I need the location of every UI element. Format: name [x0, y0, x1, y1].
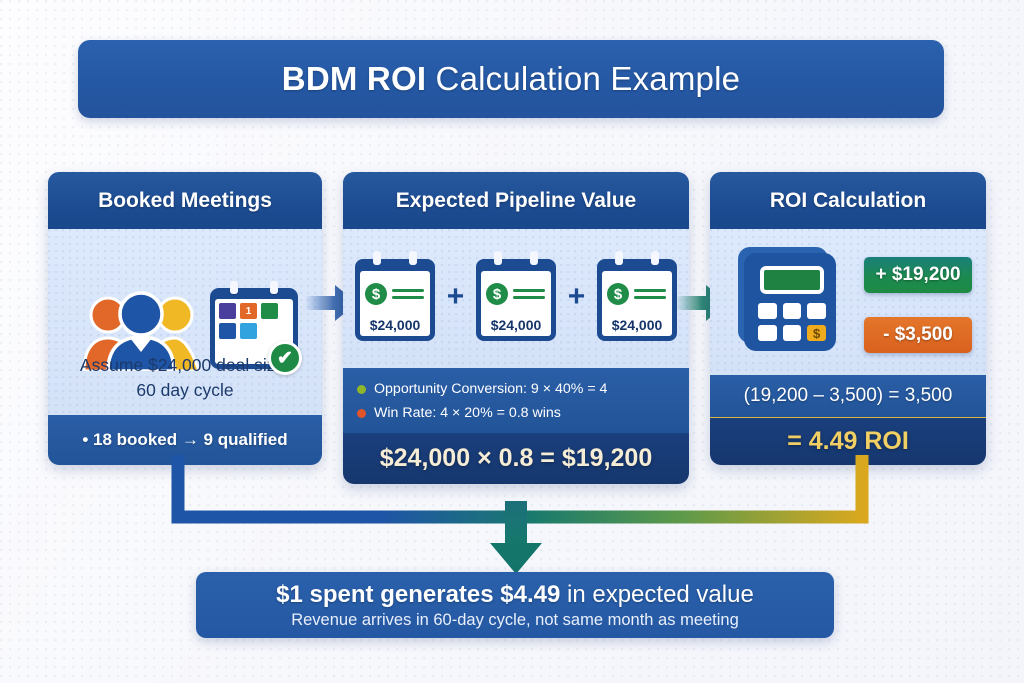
card-expected-pipeline-value-header: Expected Pipeline Value [343, 172, 689, 229]
card-roi-calculation-body: $ + $19,200 - $3,500 [710, 229, 986, 375]
calendar-cell-4 [219, 323, 236, 339]
calculator-key-2 [783, 303, 802, 319]
page-title-light: Calculation Example [426, 60, 740, 97]
summary-suffix: in expected value [560, 581, 753, 608]
money-calendar-1: $ $24,000 [353, 251, 437, 343]
calculator-key-1 [758, 303, 777, 319]
money-calendar-2-panel: $ $24,000 [481, 271, 551, 336]
money-calendar-3-content: $ [602, 271, 672, 317]
bullet-dot-orange [357, 409, 366, 418]
money-calendar-2: $ $24,000 [474, 251, 558, 343]
amount-lines [392, 289, 430, 299]
dollar-icon: $ [365, 283, 387, 305]
page-title-strong: BDM ROI [282, 60, 426, 97]
summary-banner: $1 spent generates $4.49 in expected val… [196, 572, 834, 638]
money-calendar-2-content: $ [481, 271, 551, 317]
calendar-ring-right [270, 281, 278, 294]
calendar-cell-5 [240, 323, 257, 339]
card-roi-calculation: ROI Calculation $ + $19,200 - [710, 172, 986, 465]
card-booked-meetings-header: Booked Meetings [48, 172, 322, 229]
card-expected-pipeline-value-body: $ $24,000 + $ [343, 229, 689, 368]
money-calendar-2-amount: $24,000 [481, 317, 551, 336]
bullet-win-rate: Win Rate: 4 × 20% = 0.8 wins [357, 401, 677, 425]
title-bar: BDM ROI Calculation Example [78, 40, 944, 118]
roi-footer-text: = 4.49 ROI [787, 427, 909, 456]
money-calendar-1-content: $ [360, 271, 430, 317]
bullet-opportunity-conversion: Opportunity Conversion: 9 × 40% = 4 [357, 377, 677, 401]
check-circle-icon: ✔ [268, 341, 302, 375]
calendar-cell-today: 1 [240, 303, 257, 319]
calendar-ring-left [230, 281, 238, 294]
money-calendar-3: $ $24,000 [595, 251, 679, 343]
pipeline-bullets: Opportunity Conversion: 9 × 40% = 4 Win … [343, 368, 689, 433]
plus-icon-2: + [568, 282, 586, 312]
money-calendar-1-panel: $ $24,000 [360, 271, 430, 336]
bullet-dot-green [357, 385, 366, 394]
calculator-key-dollar: $ [807, 325, 826, 341]
money-calendar-1-amount: $24,000 [360, 317, 430, 336]
calculator-key-4 [758, 325, 777, 341]
page-title: BDM ROI Calculation Example [282, 60, 740, 98]
summary-banner-sub: Revenue arrives in 60-day cycle, not sam… [291, 611, 739, 630]
calendar-cell-3 [261, 303, 278, 319]
calculator-icon: $ [738, 247, 836, 351]
roi-net-formula: (19,200 – 3,500) = 3,500 [710, 375, 986, 417]
money-calendar-row: $ $24,000 + $ [353, 241, 679, 353]
money-calendar-3-panel: $ $24,000 [602, 271, 672, 336]
bottom-connector [150, 455, 890, 580]
card-booked-meetings: Booked Meetings [48, 172, 322, 465]
calculator-keypad: $ [758, 303, 826, 341]
calculator-screen [760, 266, 824, 294]
connector-svg [150, 455, 890, 580]
cost-badge: - $3,500 [864, 317, 972, 353]
infographic-canvas: BDM ROI Calculation Example Booked Meeti… [0, 0, 1024, 683]
amount-lines [634, 289, 672, 299]
gain-badge: + $19,200 [864, 257, 972, 293]
bullet-opportunity-conversion-label: Opportunity Conversion: 9 × 40% = 4 [374, 377, 607, 401]
summary-prefix: $1 spent generates [276, 581, 500, 608]
amount-lines [513, 289, 551, 299]
summary-banner-main: $1 spent generates $4.49 in expected val… [276, 581, 754, 609]
dollar-icon: $ [607, 283, 629, 305]
money-calendar-3-ring-right [651, 251, 659, 265]
money-calendar-2-ring-right [530, 251, 538, 265]
card-expected-pipeline-value: Expected Pipeline Value $ $24,000 + [343, 172, 689, 484]
dollar-icon: $ [486, 283, 508, 305]
summary-value: $4.49 [500, 581, 560, 608]
card-booked-meetings-body: 1 ✔ Assume $24,000 deal size, 60 day cyc… [48, 229, 322, 415]
calculator-key-5 [783, 325, 802, 341]
money-calendar-1-ring-left [373, 251, 381, 265]
money-calendar-3-ring-left [615, 251, 623, 265]
plus-icon-1: + [447, 282, 465, 312]
money-calendar-2-ring-left [494, 251, 502, 265]
calendar-cell-1 [219, 303, 236, 319]
bullet-win-rate-label: Win Rate: 4 × 20% = 0.8 wins [374, 401, 561, 425]
assume-line-2: 60 day cycle [64, 378, 306, 403]
calculator-body: $ [744, 253, 836, 351]
calculator-key-3 [807, 303, 826, 319]
money-calendar-3-amount: $24,000 [602, 317, 672, 336]
money-calendar-1-ring-right [409, 251, 417, 265]
card-roi-calculation-header: ROI Calculation [710, 172, 986, 229]
